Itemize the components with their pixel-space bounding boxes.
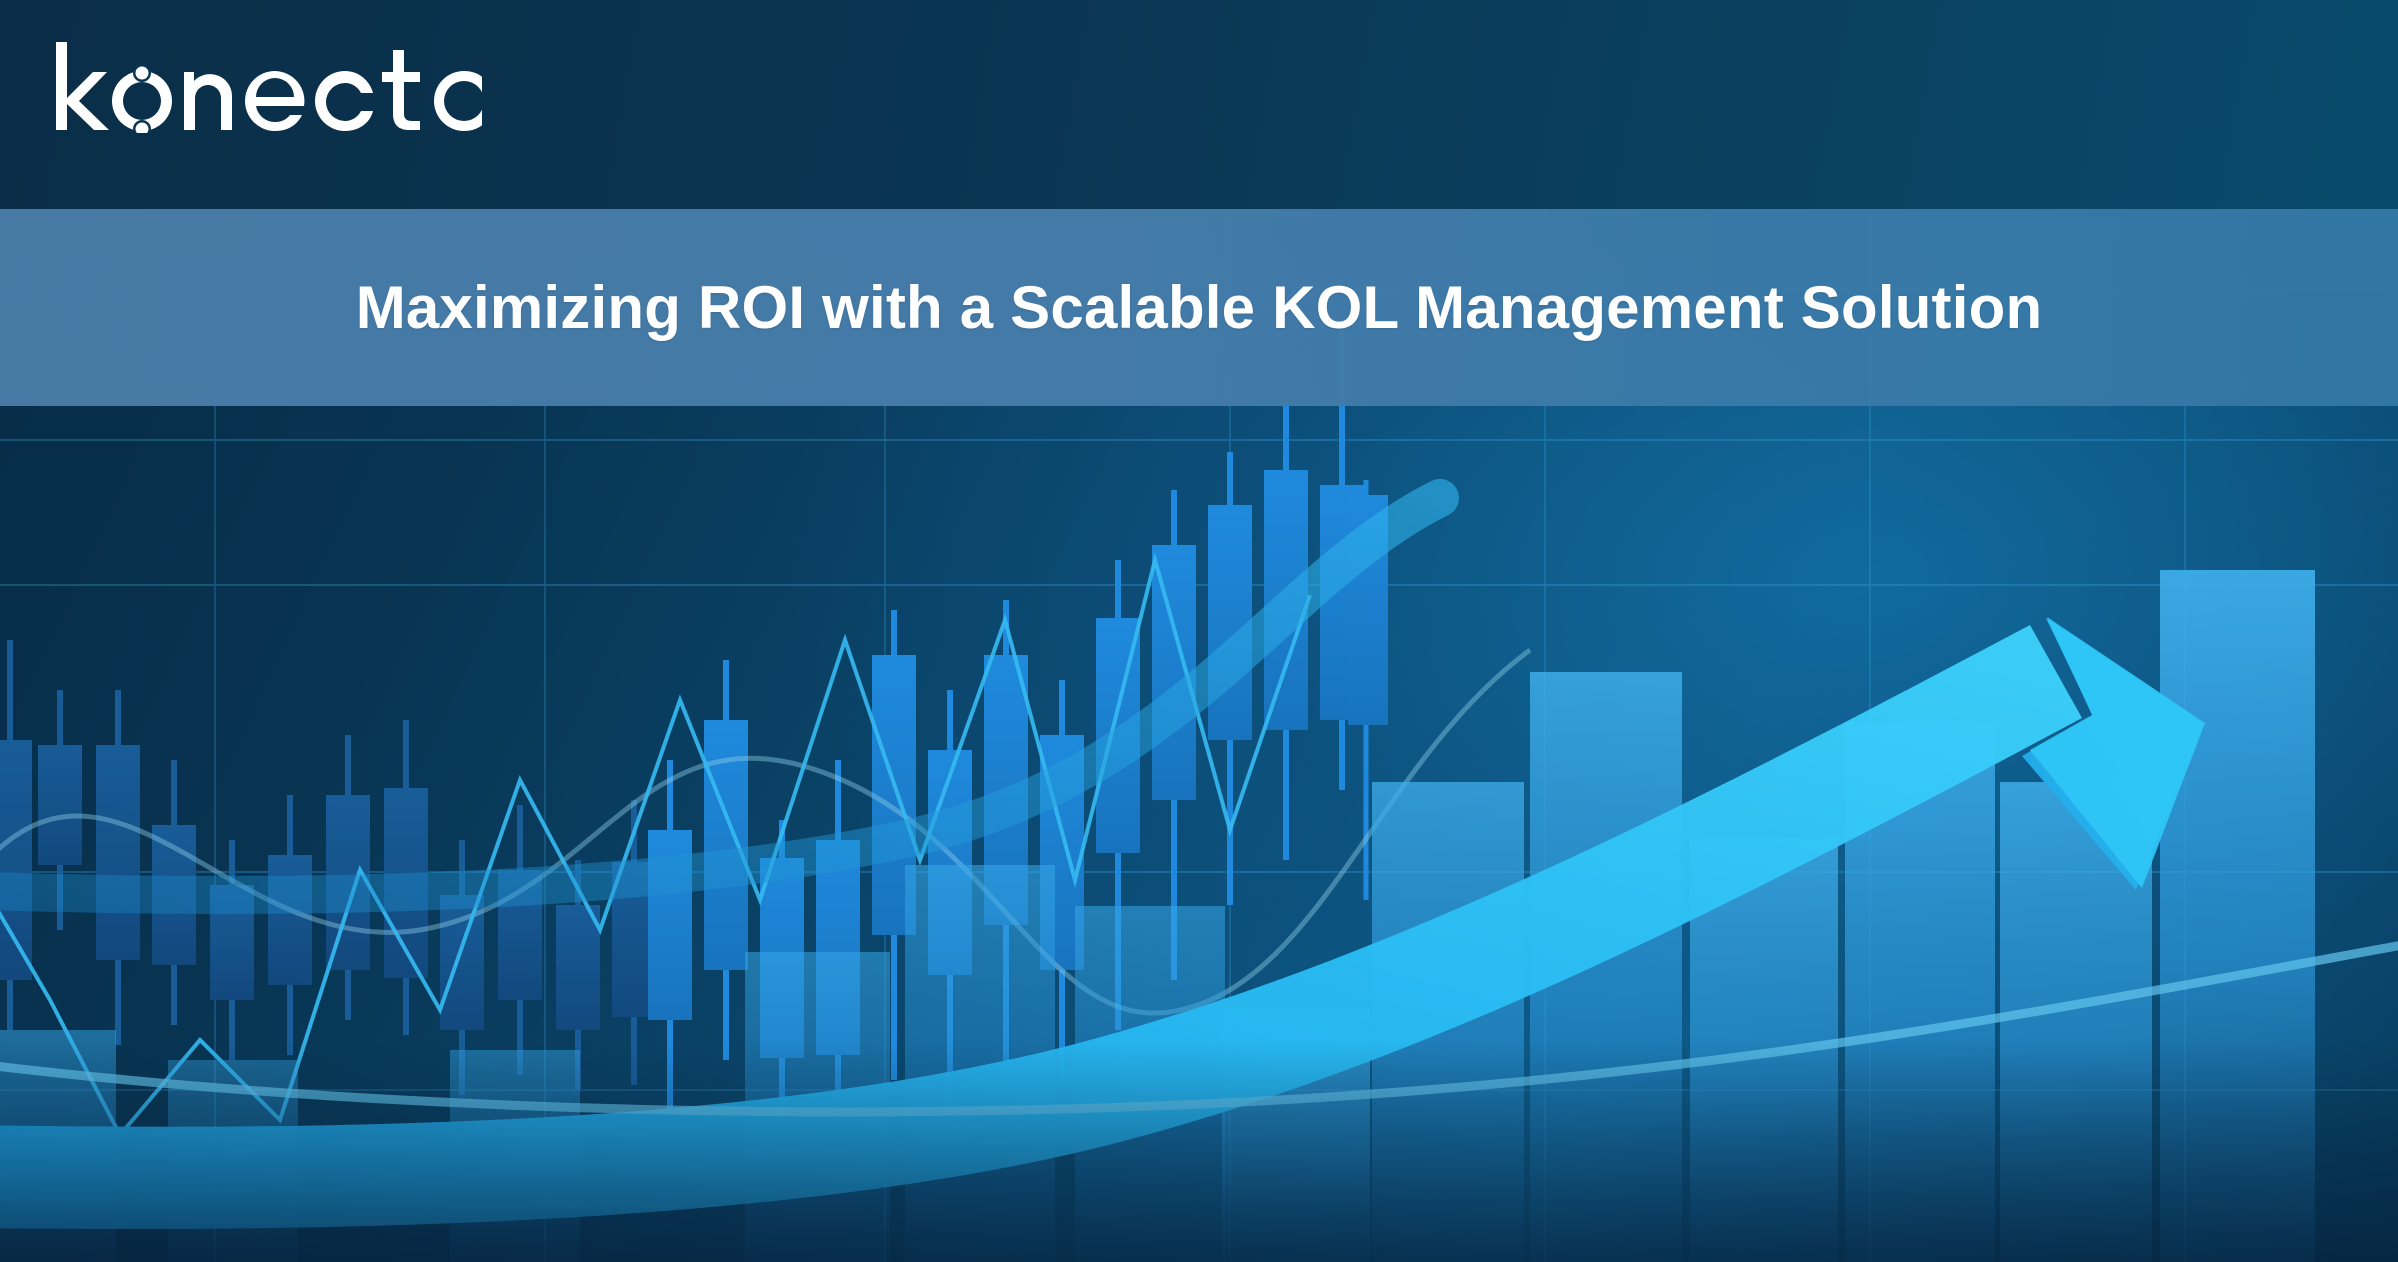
- page-title: Maximizing ROI with a Scalable KOL Manag…: [356, 275, 2043, 341]
- brand-logo[interactable]: R: [52, 38, 482, 133]
- marketing-banner: R Maximizing ROI with a Scalable KOL Man…: [0, 0, 2398, 1262]
- title-band: Maximizing ROI with a Scalable KOL Manag…: [0, 209, 2398, 406]
- bottom-vignette: [0, 1040, 2398, 1262]
- konectar-wordmark-logo: R: [52, 38, 482, 133]
- header-bar: R: [0, 0, 2398, 209]
